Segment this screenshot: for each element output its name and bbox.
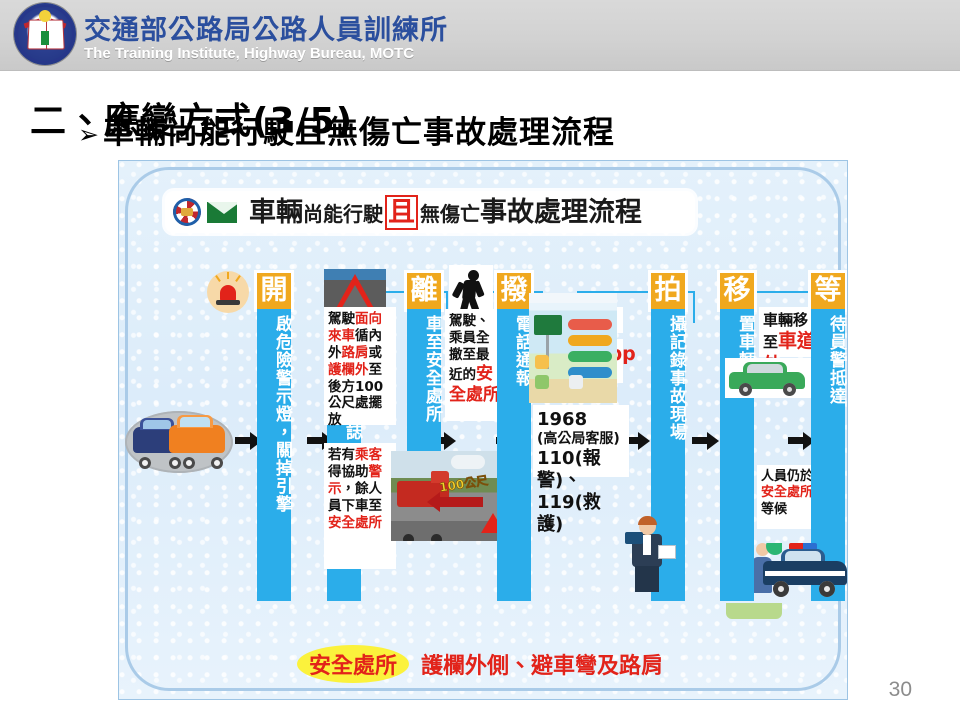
step-1-label: 啟危險警示燈，關掉引擎 [257,309,291,601]
org-title-zh: 交通部公路局公路人員訓練所 [84,8,448,47]
page-number: 30 [889,678,912,702]
step-6-badge: 移 [720,273,754,309]
note-place-sign: 駕駛面向來車循內外路肩或護欄外至後方100公尺處擺放 [324,307,396,425]
flowchart-title-text: 車輛尚能行駛且無傷亡事故處理流程 [249,199,642,226]
app-screenshot-photo [529,293,617,403]
note-seg: 或 [369,345,383,361]
step-1-open[interactable]: 開 啟危險警示燈，關掉引擎 [257,273,291,601]
flowchart-title-banner: 車輛尚能行駛且無傷亡事故處理流程 [165,191,695,233]
note-seg: 若有 [328,447,355,463]
step-3-badge: 離 [407,273,441,309]
two-cars-collision-icon [125,411,233,473]
banner-part1: 車輛 [249,197,303,228]
highway-bureau-emblem-icon [205,200,239,225]
note-seg: 安全處所 [761,485,813,500]
note-seg: 駕駛 [328,311,355,327]
banner-part3: 無傷亡 [420,202,480,226]
banner-part2: 尚能行駛 [303,202,383,226]
step-7-badge: 等 [811,273,845,309]
ministry-seal-icon [173,198,201,226]
green-car-icon [725,358,811,398]
step-4-badge: 撥 [497,273,531,309]
phone-line-3: 110(報警)、 [537,448,625,492]
slide-subtitle-text: 車輛尚能行駛且無傷亡事故處理流程 [103,115,615,151]
safe-place-pill: 安全處所 [297,645,409,683]
note-seg: 路肩 [342,345,369,361]
step-4-label: 電話通報 [497,309,531,601]
slide-title-sub: ➢車輛尚能行駛且無傷亡事故處理流程 [78,107,615,152]
note-passenger-help: 若有乘客得協助警示，餘人員下車至安全處所 [324,443,396,569]
note-seg: 乘客 [355,447,382,463]
police-car-icon [761,541,848,599]
page-header: 交通部公路局公路人員訓練所 The Training Institute, Hi… [0,0,960,71]
flowchart-image: 車輛尚能行駛且無傷亡事故處理流程 開 啟危險警示燈，關掉引擎 放 置車輛故障標誌… [118,160,848,700]
note-seg: 得協助 [328,464,369,480]
phone-line-2: (高公局客服) [537,431,625,448]
bullet-arrow-icon: ➢ [78,120,100,149]
roadside-warning-triangle-photo: 100公尺 [391,451,511,541]
note-phone-numbers: 1968 (高公局客服) 110(報警)、 119(救護) [533,405,629,477]
note-seg: 等候 [761,502,787,517]
step-6-label: 置車輛 [720,309,754,601]
photographer-icon [619,516,681,594]
note-evacuate: 駕駛、乘員全撤至最近的安全處所 [445,309,505,421]
phone-line-1: 1968 [537,409,625,431]
warning-light-icon [207,271,249,313]
step-5-badge: 拍 [651,273,685,309]
step-6-move[interactable]: 移 置車輛 [720,273,754,601]
safe-place-text: 護欄外側、避車彎及路肩 [421,648,663,680]
note-seg: 人員仍於 [761,469,813,484]
step-4-dial[interactable]: 撥 電話通報 [497,273,531,601]
org-title-en: The Training Institute, Highway Bureau, … [84,45,414,62]
step-3-leave[interactable]: 離 車至安全處所 [407,273,441,481]
note-seg: 護欄外 [328,362,369,378]
safe-place-definition: 安全處所 護欄外側、避車彎及路肩 [297,641,697,687]
step-1-badge: 開 [257,273,291,309]
note-seg: 安全處所 [328,515,382,531]
phone-line-4: 119(救護) [537,492,625,536]
banner-emphasis: 且 [385,195,418,230]
training-institute-seal-icon [14,3,76,65]
banner-part4: 事故處理流程 [480,197,642,228]
